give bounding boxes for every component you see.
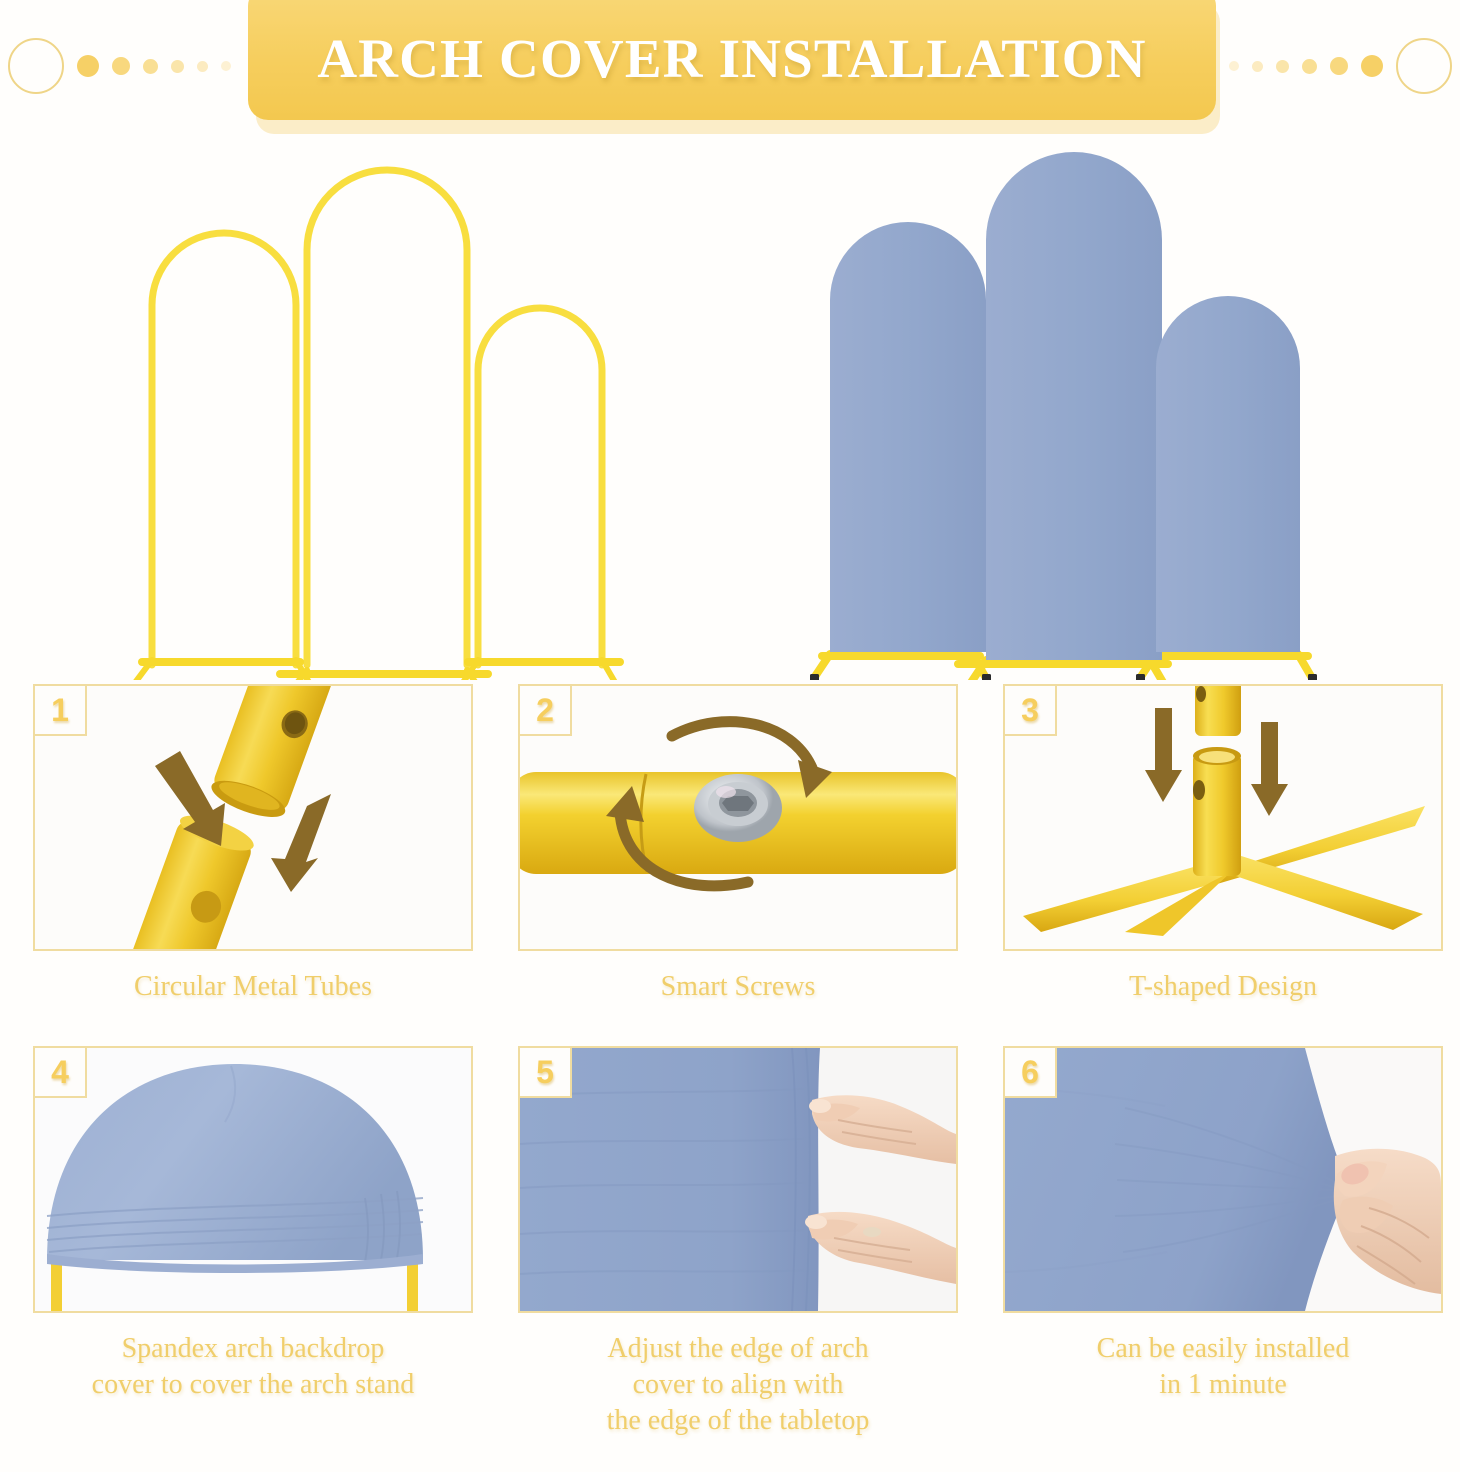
step-caption-4: Spandex arch backdrop cover to cover the… (33, 1331, 473, 1403)
dot-icon (171, 60, 184, 73)
step-number-badge: 6 (1003, 1046, 1057, 1098)
spandex-cover-on-arch-photo (35, 1048, 471, 1311)
page-title: ARCH COVER INSTALLATION (317, 27, 1146, 90)
step-card-6: 6 (1003, 1046, 1443, 1403)
step-card-4: 4 (33, 1046, 473, 1403)
hands-adjusting-cover-photo (520, 1048, 956, 1311)
step-card-5: 5 (518, 1046, 958, 1438)
step-number-badge: 2 (518, 684, 572, 736)
dot-icon (112, 57, 130, 75)
gold-arch-stands-group (120, 140, 680, 680)
step-card-1: 1 (33, 684, 473, 1005)
step-image-frame: 5 (518, 1046, 958, 1313)
caption-line: Adjust the edge of arch (518, 1331, 958, 1367)
caption-line: Circular Metal Tubes (33, 969, 473, 1005)
dot-icon (1302, 59, 1317, 74)
step-image-frame: 1 (33, 684, 473, 951)
covered-arch-backdrops-group (800, 140, 1360, 680)
step-caption-3: T-shaped Design (1003, 969, 1443, 1005)
step-caption-1: Circular Metal Tubes (33, 969, 473, 1005)
caption-line: in 1 minute (1003, 1367, 1443, 1403)
dot-icon (77, 55, 99, 77)
hero-illustration (0, 140, 1460, 680)
infographic-page: ARCH COVER INSTALLATION (0, 0, 1460, 1472)
step-number-badge: 5 (518, 1046, 572, 1098)
caption-line: Spandex arch backdrop (33, 1331, 473, 1367)
caption-line: cover to align with (518, 1367, 958, 1403)
dot-icon (221, 61, 231, 71)
caption-line: T-shaped Design (1003, 969, 1443, 1005)
title-banner: ARCH COVER INSTALLATION (248, 0, 1216, 120)
page-header: ARCH COVER INSTALLATION (0, 0, 1460, 132)
step-caption-6: Can be easily installed in 1 minute (1003, 1331, 1443, 1403)
caption-line: Smart Screws (518, 969, 958, 1005)
step-card-2: 2 (518, 684, 958, 1005)
caption-line: the edge of the tabletop (518, 1403, 958, 1439)
header-ornament-left (8, 0, 231, 132)
installation-steps-grid: 1 (0, 684, 1460, 1472)
hand-stretching-fabric-photo (1005, 1048, 1441, 1311)
caption-line: cover to cover the arch stand (33, 1367, 473, 1403)
dot-icon (143, 59, 158, 74)
dot-icon (1229, 61, 1239, 71)
t-shaped-base-photo (1005, 686, 1441, 949)
caption-line: Can be easily installed (1003, 1331, 1443, 1367)
dot-icon (1361, 55, 1383, 77)
step-caption-2: Smart Screws (518, 969, 958, 1005)
smart-screw-photo (520, 686, 956, 949)
step-number-badge: 1 (33, 684, 87, 736)
dot-icon (1330, 57, 1348, 75)
dot-icon (197, 61, 208, 72)
dot-icon (1252, 61, 1263, 72)
step-number-badge: 3 (1003, 684, 1057, 736)
metal-tubes-photo (35, 686, 471, 949)
header-ornament-right (1229, 0, 1452, 132)
step-image-frame: 6 (1003, 1046, 1443, 1313)
step-card-3: 3 (1003, 684, 1443, 1005)
circle-outline-icon (1396, 38, 1452, 94)
step-caption-5: Adjust the edge of arch cover to align w… (518, 1331, 958, 1438)
circle-outline-icon (8, 38, 64, 94)
dot-icon (1276, 60, 1289, 73)
step-image-frame: 4 (33, 1046, 473, 1313)
step-image-frame: 3 (1003, 684, 1443, 951)
step-image-frame: 2 (518, 684, 958, 951)
step-number-badge: 4 (33, 1046, 87, 1098)
